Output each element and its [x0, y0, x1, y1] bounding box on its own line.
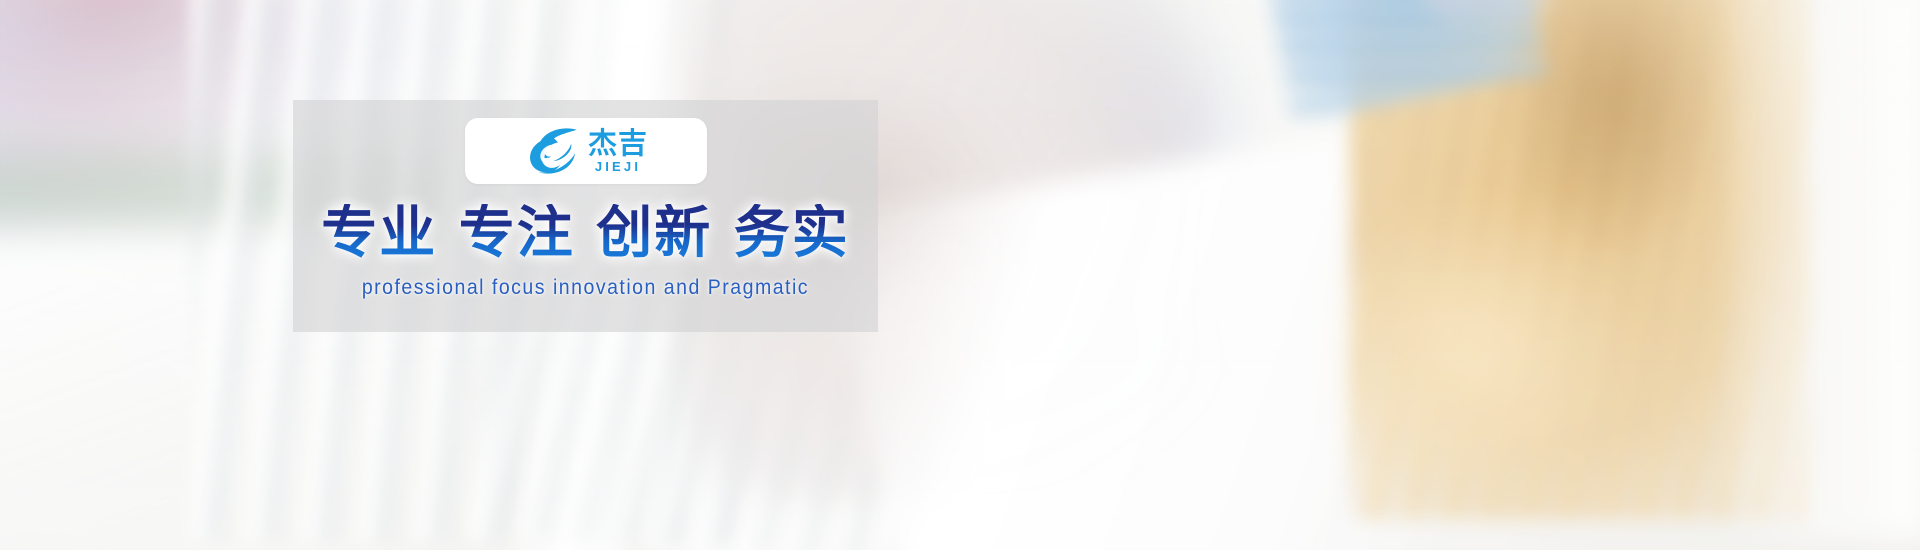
background-haze — [0, 0, 1920, 550]
logo-wordmark: 杰吉 JIEJI — [588, 129, 648, 173]
hero-banner: 杰吉 JIEJI 专业 专注 创新 务实 professional focus … — [0, 0, 1920, 550]
logo-chinese-name: 杰吉 — [588, 129, 648, 158]
company-logo-badge: 杰吉 JIEJI — [465, 118, 707, 184]
slogan-headline-chinese: 专业 专注 创新 务实 — [321, 204, 850, 264]
slogan-overlay-panel: 杰吉 JIEJI 专业 专注 创新 务实 professional focus … — [293, 100, 878, 332]
logo-latin-name: JIEJI — [595, 160, 641, 173]
slogan-subtitle-english: professional focus innovation and Pragma… — [362, 276, 809, 300]
jieji-swoosh-mark-icon — [523, 125, 579, 177]
background-photo — [0, 0, 1920, 550]
